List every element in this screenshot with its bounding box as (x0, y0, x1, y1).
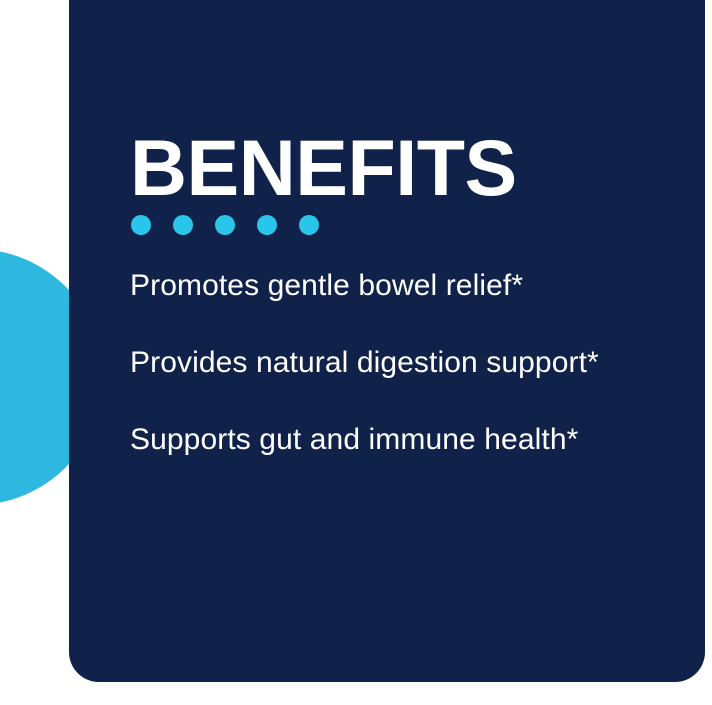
divider-dot-icon (257, 215, 277, 235)
list-item: Promotes gentle bowel relief* (130, 266, 650, 305)
benefits-list: Promotes gentle bowel relief* Provides n… (130, 266, 650, 459)
divider-dot-icon (215, 215, 235, 235)
page-title: BENEFITS (130, 128, 517, 207)
benefits-panel: BENEFITS Promotes gentle bowel relief* P… (0, 0, 712, 705)
divider-dot-icon (131, 215, 151, 235)
list-item: Provides natural digestion support* (130, 343, 650, 382)
dot-divider (131, 215, 319, 235)
divider-dot-icon (299, 215, 319, 235)
benefits-card: BENEFITS Promotes gentle bowel relief* P… (69, 0, 705, 682)
benefits-card-content: BENEFITS Promotes gentle bowel relief* P… (130, 0, 705, 682)
list-item: Supports gut and immune health* (130, 420, 650, 459)
divider-dot-icon (173, 215, 193, 235)
